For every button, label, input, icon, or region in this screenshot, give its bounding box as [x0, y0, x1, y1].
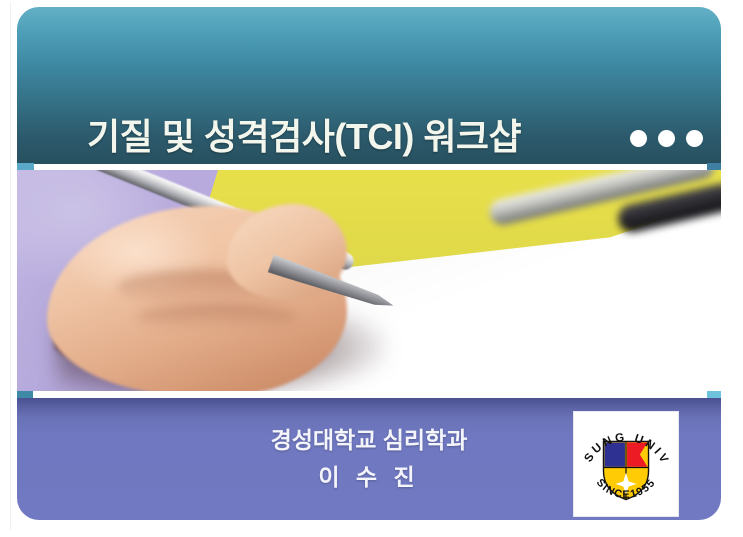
- header-divider-tab-left: [17, 163, 34, 170]
- hero-photo: [17, 170, 721, 391]
- header-dots-decoration: [630, 130, 703, 147]
- page-title: 기질 및 성격검사(TCI) 워크샵: [87, 117, 521, 157]
- photo-hand-knuckle: [137, 304, 297, 330]
- slide-header-band: 기질 및 성격검사(TCI) 워크샵: [17, 7, 721, 165]
- photo-divider: [17, 391, 721, 398]
- dot-icon: [686, 130, 703, 147]
- photo-divider-tab-left: [17, 391, 33, 398]
- dot-icon: [658, 130, 675, 147]
- header-divider-tab-right: [707, 163, 721, 170]
- university-logo: KYUNG SUNG UNIVERSITY SINCE1955: [573, 411, 679, 517]
- presentation-slide: 기질 및 성격검사(TCI) 워크샵 경성대학교 심리학과 이 수 진: [0, 0, 743, 537]
- kyungsung-university-emblem-icon: KYUNG SUNG UNIVERSITY SINCE1955: [574, 412, 678, 516]
- dot-icon: [630, 130, 647, 147]
